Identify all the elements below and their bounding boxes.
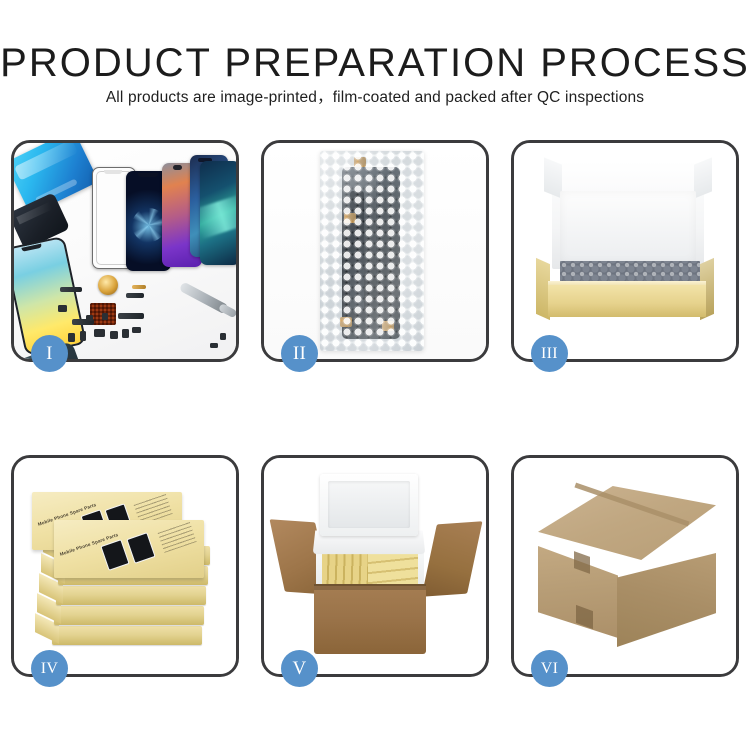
step-badge-5: V	[281, 650, 318, 687]
process-step-grid: I II	[11, 140, 739, 677]
process-step-card-3[interactable]: III	[511, 140, 739, 362]
step-badge-3: III	[531, 335, 568, 372]
part-flex-cable	[126, 293, 144, 298]
bubble-wrap-bag	[320, 151, 424, 351]
foam-lid	[320, 474, 418, 536]
stacked-box	[56, 586, 206, 605]
part-small-component	[68, 333, 75, 342]
step-badge-1: I	[31, 335, 68, 372]
process-step-card-2[interactable]: II	[261, 140, 489, 362]
foam-sheet	[560, 191, 696, 263]
part-small-component	[102, 313, 108, 320]
process-step-card-1[interactable]: I	[11, 140, 239, 362]
part-small-component	[94, 329, 105, 337]
page-subtitle: All products are image-printed，film-coat…	[0, 88, 750, 108]
stacked-box	[54, 606, 204, 625]
box-label-screen-image	[126, 532, 155, 564]
part-small-component	[220, 333, 226, 340]
phone-swirl-screen	[200, 161, 236, 265]
step-5-image	[264, 458, 486, 674]
part-small-component	[80, 331, 86, 341]
step-badge-4: IV	[31, 650, 68, 687]
stacked-box	[52, 626, 202, 645]
part-flex-cable	[118, 313, 144, 319]
process-step-card-4[interactable]: Mobile Phone Spare Parts Mobile Phone Sp…	[11, 455, 239, 677]
printed-box-front: Mobile Phone Spare Parts	[54, 520, 204, 578]
part-speaker-coil	[98, 275, 118, 295]
process-step-card-5[interactable]: V	[261, 455, 489, 677]
part-small-component	[210, 343, 218, 348]
step-6-image	[514, 458, 736, 674]
step-3-image	[514, 143, 736, 359]
carton-front-panel	[314, 586, 426, 654]
step-badge-6: VI	[531, 650, 568, 687]
page-title: PRODUCT PREPARATION PROCESS	[0, 41, 750, 85]
step-badge-2: II	[281, 335, 318, 372]
step-4-image: Mobile Phone Spare Parts Mobile Phone Sp…	[14, 458, 236, 674]
box-label-spec-lines	[157, 521, 196, 553]
header: PRODUCT PREPARATION PROCESS All products…	[0, 0, 750, 128]
part-gold-contact	[132, 285, 146, 289]
part-small-component	[86, 315, 93, 321]
box-front-panel	[548, 285, 706, 317]
part-flex-cable	[60, 287, 82, 292]
step-1-image	[14, 143, 236, 359]
process-step-card-6[interactable]: VI	[511, 455, 739, 677]
plastic-sheen	[320, 151, 424, 351]
part-small-component	[122, 329, 129, 338]
part-small-component	[58, 305, 67, 312]
step-2-image	[264, 143, 486, 359]
part-small-component	[132, 327, 141, 333]
part-small-component	[110, 331, 118, 339]
box-label-screen-image	[100, 539, 129, 571]
